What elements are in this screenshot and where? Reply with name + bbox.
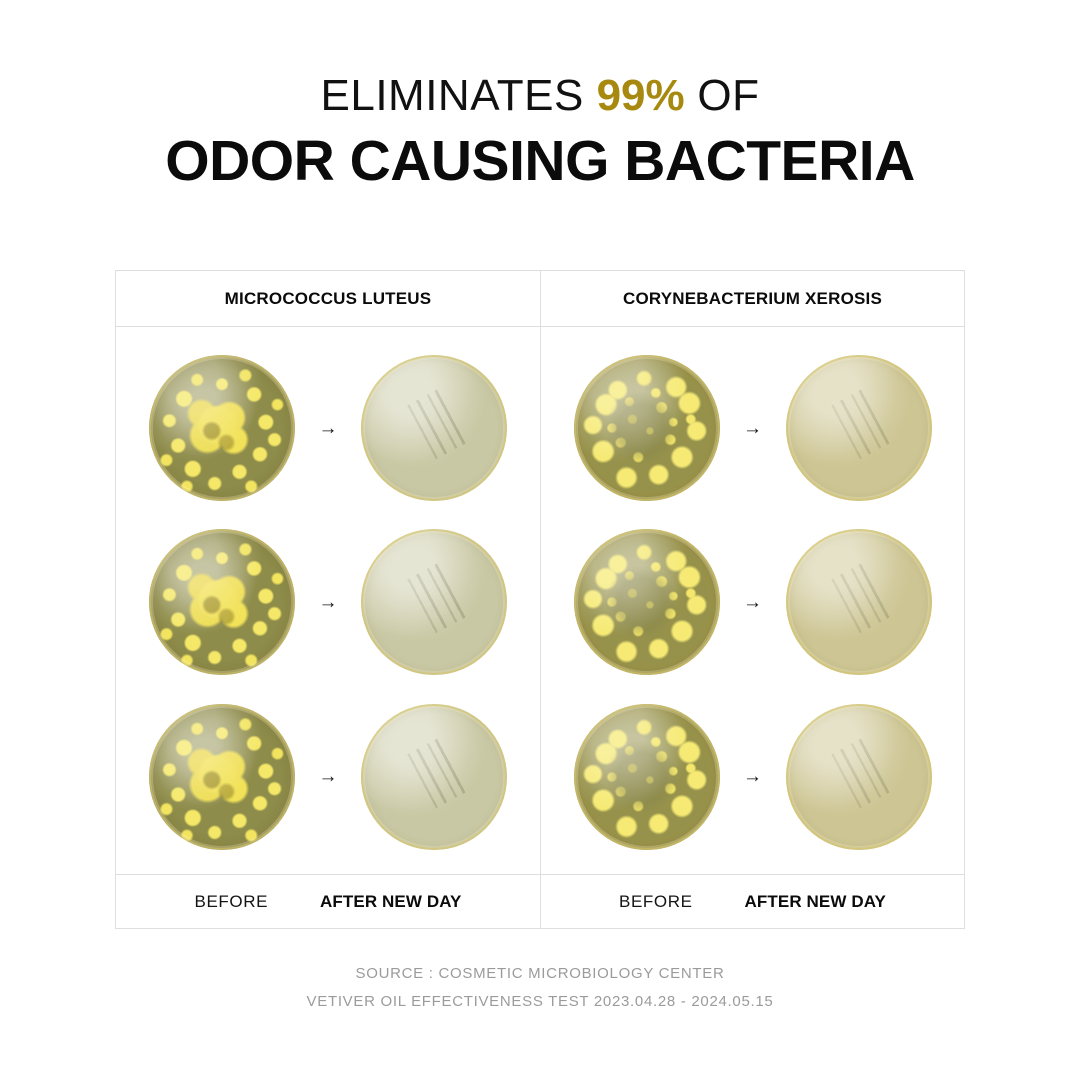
colony-overlay <box>574 355 720 501</box>
source-footer: SOURCE : COSMETIC MICROBIOLOGY CENTER VE… <box>0 960 1080 1016</box>
petri-dish-after <box>361 355 507 501</box>
petri-dish-after <box>361 704 507 850</box>
petri-dish-before <box>149 704 295 850</box>
source-line-2: VETIVER OIL EFFECTIVENESS TEST 2023.04.2… <box>0 988 1080 1016</box>
colony-overlay <box>149 529 295 675</box>
species-column-micrococcus-luteus: → → <box>116 327 540 874</box>
table-body: → → <box>116 327 964 874</box>
headline-suffix: OF <box>685 71 760 120</box>
plate-row: → <box>541 690 964 864</box>
arrow-icon: → <box>742 593 764 612</box>
plate-handwriting <box>814 387 894 469</box>
plate-row: → <box>116 341 540 515</box>
source-line-1: SOURCE : COSMETIC MICROBIOLOGY CENTER <box>0 960 1080 988</box>
petri-dish-before <box>149 529 295 675</box>
arrow-icon: → <box>317 767 339 786</box>
label-after: AFTER NEW DAY <box>745 892 886 912</box>
colony-overlay <box>149 355 295 501</box>
infographic-page: ELIMINATES 99% OF ODOR CAUSING BACTERIA … <box>0 0 1080 1080</box>
petri-dish-before <box>574 704 720 850</box>
arrow-icon: → <box>317 419 339 438</box>
plate-row: → <box>116 690 540 864</box>
petri-dish-before <box>574 529 720 675</box>
headline-line-2: ODOR CAUSING BACTERIA <box>0 132 1080 192</box>
plate-row: → <box>116 515 540 689</box>
plate-row: → <box>541 515 964 689</box>
plate-handwriting <box>389 736 469 818</box>
plate-handwriting <box>389 562 469 644</box>
petri-dish-before <box>574 355 720 501</box>
colony-overlay <box>574 704 720 850</box>
table-footer-row: BEFORE AFTER NEW DAY BEFORE AFTER NEW DA… <box>116 874 964 928</box>
colony-overlay <box>574 529 720 675</box>
petri-dish-after <box>786 355 932 501</box>
species-column-corynebacterium-xerosis: → → <box>540 327 964 874</box>
headline-percent: 99% <box>597 71 685 120</box>
label-after: AFTER NEW DAY <box>320 892 461 912</box>
comparison-table: MICROCOCCUS LUTEUS CORYNEBACTERIUM XEROS… <box>115 270 965 929</box>
colony-overlay <box>149 704 295 850</box>
headline-line-1: ELIMINATES 99% OF <box>0 72 1080 120</box>
arrow-icon: → <box>742 767 764 786</box>
column-header-corynebacterium-xerosis: CORYNEBACTERIUM XEROSIS <box>540 271 964 326</box>
footer-labels-micrococcus-luteus: BEFORE AFTER NEW DAY <box>116 875 540 928</box>
headline-block: ELIMINATES 99% OF ODOR CAUSING BACTERIA <box>0 72 1080 191</box>
plate-handwriting <box>814 736 894 818</box>
petri-dish-after <box>786 704 932 850</box>
label-before: BEFORE <box>195 892 269 912</box>
plate-handwriting <box>389 387 469 469</box>
column-header-micrococcus-luteus: MICROCOCCUS LUTEUS <box>116 271 540 326</box>
plate-handwriting <box>814 562 894 644</box>
arrow-icon: → <box>317 593 339 612</box>
table-header-row: MICROCOCCUS LUTEUS CORYNEBACTERIUM XEROS… <box>116 271 964 327</box>
petri-dish-after <box>786 529 932 675</box>
petri-dish-after <box>361 529 507 675</box>
petri-dish-before <box>149 355 295 501</box>
plate-row: → <box>541 341 964 515</box>
headline-prefix: ELIMINATES <box>321 71 597 120</box>
label-before: BEFORE <box>619 892 693 912</box>
footer-labels-corynebacterium-xerosis: BEFORE AFTER NEW DAY <box>540 875 964 928</box>
arrow-icon: → <box>742 419 764 438</box>
